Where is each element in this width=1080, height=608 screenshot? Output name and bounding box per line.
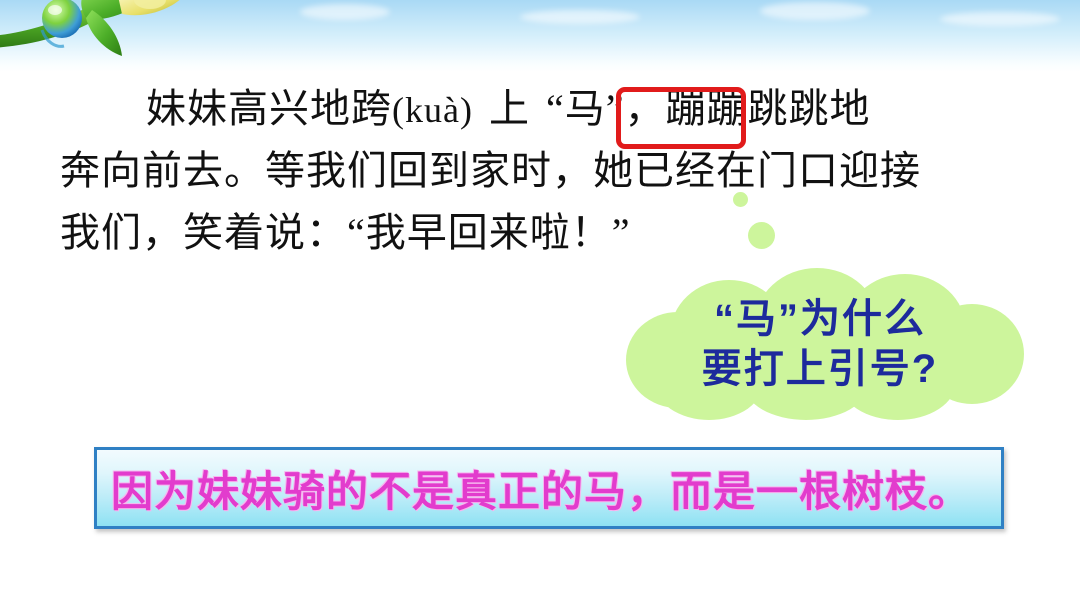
question-cloud-callout: “马”为什么 要打上引号? (608, 268, 1032, 420)
passage-line-3: 我们，笑着说：“我早回来啦！” (60, 202, 1020, 264)
passage-line-2: 奔向前去。等我们回到家时，她已经在门口迎接 (60, 140, 1020, 202)
answer-text: 因为妹妹骑的不是真正的马，而是一根树枝。 (97, 458, 971, 519)
cloud-wisp-icon (300, 4, 390, 20)
cloud-wisp-icon (760, 2, 870, 20)
cloud-question-line-2: 要打上引号? (608, 344, 1032, 394)
cloud-wisp-icon (520, 10, 640, 24)
answer-banner: 因为妹妹骑的不是真正的马，而是一根树枝。 (94, 447, 1004, 529)
cloud-question-text: “马”为什么 要打上引号? (608, 294, 1032, 394)
thought-bubble-dot-large (748, 222, 775, 249)
passage-line-1: 妹妹高兴地跨(kuà)上“马”，蹦蹦跳跳地 (60, 78, 1020, 140)
passage-text: 妹妹高兴地跨(kuà)上“马”，蹦蹦跳跳地 奔向前去。等我们回到家时，她已经在门… (60, 78, 1020, 264)
leaf-dewdrop-icon (0, 0, 250, 74)
pinyin-kua: (kuà) (392, 90, 473, 130)
passage-line-1-part-a: 妹妹高兴地跨 (146, 86, 392, 131)
cloud-question-line-1: “马”为什么 (608, 294, 1032, 344)
red-emphasis-box (616, 87, 746, 149)
decorative-sky-banner (0, 0, 1080, 72)
cloud-wisp-icon (940, 12, 1060, 26)
passage-line-1-part-b: 上 (489, 86, 530, 131)
boxed-word-ma: “马” (546, 86, 625, 131)
thought-bubble-dot-small (733, 192, 748, 207)
slide-canvas: 妹妹高兴地跨(kuà)上“马”，蹦蹦跳跳地 奔向前去。等我们回到家时，她已经在门… (0, 0, 1080, 608)
